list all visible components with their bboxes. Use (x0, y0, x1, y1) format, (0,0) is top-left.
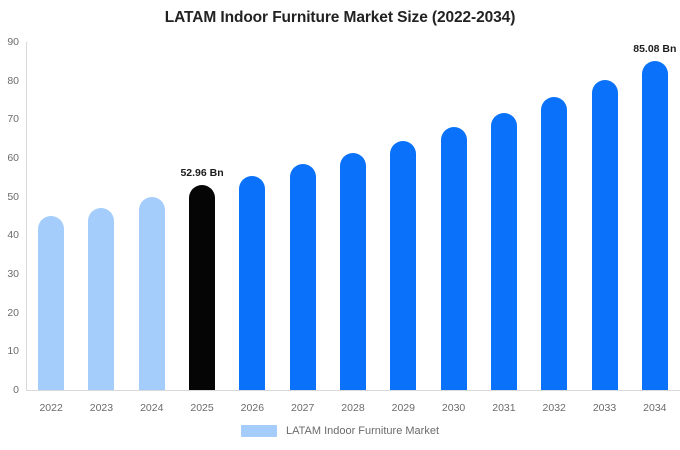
x-axis-tick: 2025 (190, 402, 213, 414)
y-axis-tick: 80 (7, 75, 19, 87)
bar-group: 2023 (76, 42, 126, 390)
bar[interactable] (290, 164, 316, 390)
y-axis-tick: 50 (7, 191, 19, 203)
legend-item[interactable]: LATAM Indoor Furniture Market (241, 425, 439, 437)
bar[interactable] (541, 97, 567, 390)
legend-swatch (241, 425, 277, 437)
bar[interactable]: 52.96 Bn (189, 185, 215, 390)
bar-group: 2022 (26, 42, 76, 390)
x-axis-tick: 2022 (39, 402, 62, 414)
bar[interactable] (390, 141, 416, 390)
x-axis-tick: 2023 (90, 402, 113, 414)
x-axis-tick: 2033 (593, 402, 616, 414)
bar[interactable] (38, 216, 64, 390)
x-axis-tick: 2034 (643, 402, 666, 414)
bar[interactable] (340, 153, 366, 390)
bar-series: 20222023202452.96 Bn20252026202720282029… (26, 42, 680, 390)
chart-legend: LATAM Indoor Furniture Market (0, 425, 680, 437)
bar-group: 2030 (428, 42, 478, 390)
x-axis-tick: 2026 (241, 402, 264, 414)
plot-area: 0102030405060708090 20222023202452.96 Bn… (26, 42, 680, 390)
bar[interactable]: 85.08 Bn (642, 61, 668, 390)
bar-group: 2031 (479, 42, 529, 390)
y-axis-tick: 60 (7, 152, 19, 164)
legend-label: LATAM Indoor Furniture Market (286, 425, 439, 437)
bar-value-label: 85.08 Bn (633, 43, 676, 55)
bar-group: 2029 (378, 42, 428, 390)
y-axis-tick: 20 (7, 307, 19, 319)
bar[interactable] (491, 113, 517, 390)
x-axis-line (26, 390, 680, 391)
bar-chart: LATAM Indoor Furniture Market Size (2022… (0, 0, 680, 450)
y-axis-tick: 40 (7, 229, 19, 241)
x-axis-tick: 2030 (442, 402, 465, 414)
x-axis-tick: 2029 (392, 402, 415, 414)
x-axis-tick: 2028 (341, 402, 364, 414)
bar[interactable] (239, 176, 265, 390)
bar[interactable] (88, 208, 114, 391)
bar-group: 2027 (278, 42, 328, 390)
y-axis-tick: 90 (7, 36, 19, 48)
bar-group: 2024 (127, 42, 177, 390)
chart-title: LATAM Indoor Furniture Market Size (2022… (0, 9, 680, 27)
y-axis-tick: 10 (7, 345, 19, 357)
bar-group: 2033 (579, 42, 629, 390)
y-axis-tick: 30 (7, 268, 19, 280)
x-axis-tick: 2027 (291, 402, 314, 414)
y-axis-tick: 0 (13, 384, 19, 396)
bar-group: 2028 (328, 42, 378, 390)
bar-value-label: 52.96 Bn (180, 167, 223, 179)
bar[interactable] (592, 80, 618, 390)
bar-group: 2026 (227, 42, 277, 390)
bar-group: 52.96 Bn2025 (177, 42, 227, 390)
bar[interactable] (139, 197, 165, 390)
bar-group: 2032 (529, 42, 579, 390)
bar[interactable] (441, 127, 467, 390)
x-axis-tick: 2024 (140, 402, 163, 414)
x-axis-tick: 2031 (492, 402, 515, 414)
x-axis-tick: 2032 (543, 402, 566, 414)
bar-group: 85.08 Bn2034 (630, 42, 680, 390)
y-axis-tick: 70 (7, 113, 19, 125)
